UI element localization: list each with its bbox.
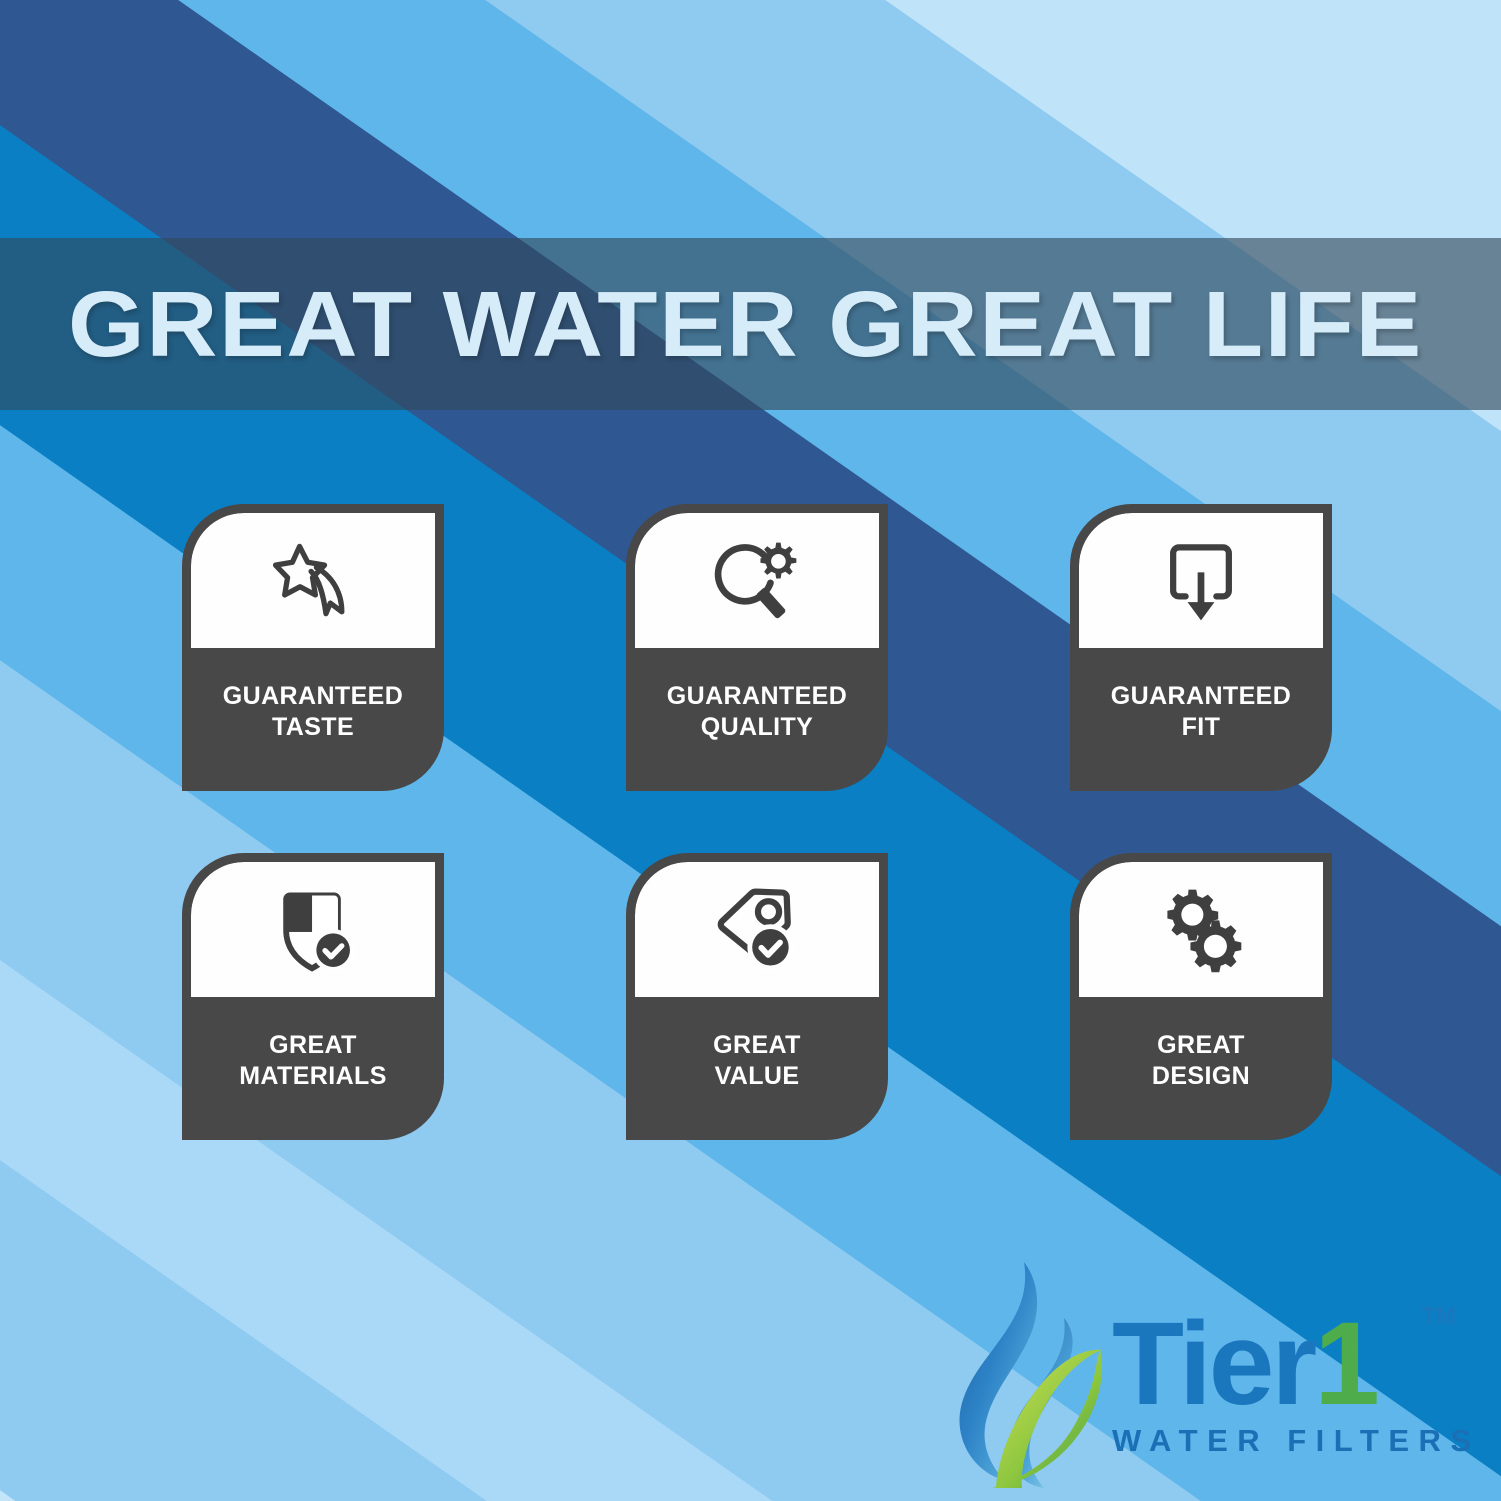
- benefit-card-great-materials[interactable]: GREAT MATERIALS: [182, 853, 444, 1140]
- logo-subtitle: WATER FILTERS: [1112, 1423, 1452, 1459]
- trademark-symbol: TM: [1421, 1306, 1456, 1328]
- benefits-row-1: GUARANTEED TASTE GUARANTEED QUALITY: [182, 504, 1334, 791]
- logo-word-tier1: Tier1 TM: [1112, 1310, 1452, 1419]
- benefits-row-2: GREAT MATERIALS GREAT VAL: [182, 853, 1334, 1140]
- card-icon-area: [191, 513, 435, 648]
- card-icon-area: [635, 513, 879, 648]
- gears-icon: [1153, 882, 1249, 978]
- card-label-line1: GUARANTEED: [667, 682, 847, 710]
- card-label: GREAT VALUE: [635, 997, 879, 1131]
- card-icon-area: [191, 862, 435, 997]
- magnifier-gear-icon: [709, 533, 805, 629]
- logo-wordmark: Tier1 TM WATER FILTERS: [1112, 1310, 1452, 1459]
- card-label-line2: TASTE: [197, 712, 429, 743]
- tier1-logo[interactable]: Tier1 TM WATER FILTERS: [952, 1258, 1452, 1490]
- benefit-card-guaranteed-fit[interactable]: GUARANTEED FIT: [1070, 504, 1332, 791]
- headline-title: GREAT WATER GREAT LIFE: [68, 278, 1423, 371]
- benefits-grid: GUARANTEED TASTE GUARANTEED QUALITY: [182, 504, 1334, 1202]
- card-icon-area: [635, 862, 879, 997]
- card-label: GUARANTEED QUALITY: [635, 648, 879, 782]
- insert-arrow-down-icon: [1153, 533, 1249, 629]
- shooting-star-icon: [265, 533, 361, 629]
- card-label-line1: GUARANTEED: [223, 682, 403, 710]
- card-icon-area: [1079, 513, 1323, 648]
- shield-check-icon: [265, 882, 361, 978]
- card-label-line2: DESIGN: [1085, 1061, 1317, 1092]
- card-label-line1: GUARANTEED: [1111, 682, 1291, 710]
- card-label: GREAT MATERIALS: [191, 997, 435, 1131]
- benefit-card-guaranteed-quality[interactable]: GUARANTEED QUALITY: [626, 504, 888, 791]
- card-icon-area: [1079, 862, 1323, 997]
- benefit-card-guaranteed-taste[interactable]: GUARANTEED TASTE: [182, 504, 444, 791]
- card-label: GUARANTEED FIT: [1079, 648, 1323, 782]
- logo-word-one: 1: [1314, 1298, 1377, 1430]
- price-tag-check-icon: [709, 882, 805, 978]
- card-label-line2: FIT: [1085, 712, 1317, 743]
- water-droplet-leaf-icon: [952, 1260, 1114, 1488]
- headline-banner: GREAT WATER GREAT LIFE: [0, 238, 1501, 410]
- card-label-line1: GREAT: [269, 1031, 357, 1059]
- poster-canvas: GREAT WATER GREAT LIFE GUARANTEED TASTE: [0, 0, 1501, 1501]
- card-label-line1: GREAT: [1157, 1031, 1245, 1059]
- card-label: GUARANTEED TASTE: [191, 648, 435, 782]
- benefit-card-great-design[interactable]: GREAT DESIGN: [1070, 853, 1332, 1140]
- card-label-line1: GREAT: [713, 1031, 801, 1059]
- card-label-line2: QUALITY: [641, 712, 873, 743]
- benefit-card-great-value[interactable]: GREAT VALUE: [626, 853, 888, 1140]
- card-label-line2: MATERIALS: [197, 1061, 429, 1092]
- logo-word-tier: Tier: [1112, 1298, 1314, 1430]
- card-label: GREAT DESIGN: [1079, 997, 1323, 1131]
- card-label-line2: VALUE: [641, 1061, 873, 1092]
